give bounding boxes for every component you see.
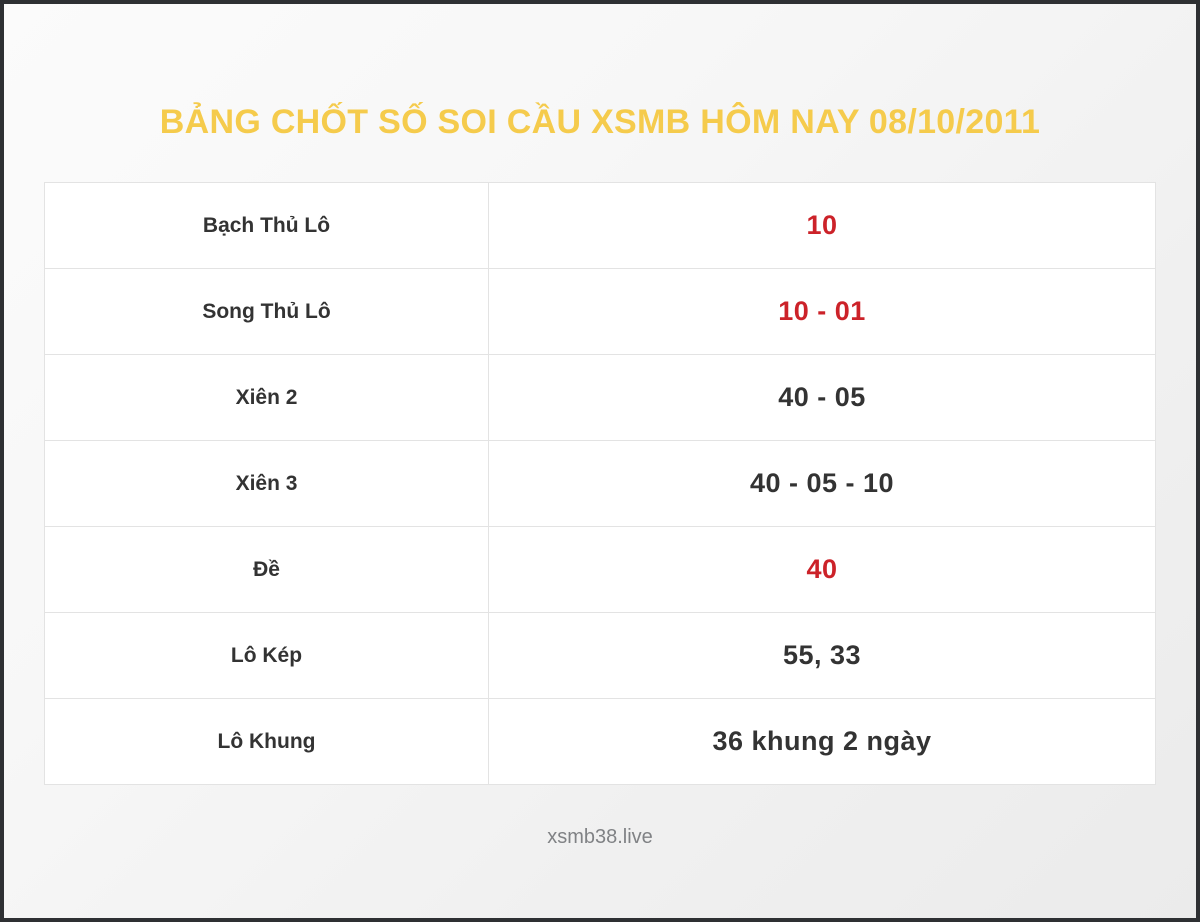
row-value-song-thu-lo: 10 - 01 xyxy=(489,269,1155,354)
table-row: Bạch Thủ Lô 10 xyxy=(45,183,1155,269)
row-label-song-thu-lo: Song Thủ Lô xyxy=(45,269,489,354)
site-watermark: xsmb38.live xyxy=(4,826,1196,849)
table-row: Lô Khung 36 khung 2 ngày xyxy=(45,699,1155,785)
row-label-xien-3: Xiên 3 xyxy=(45,441,489,526)
lottery-prediction-table: Bạch Thủ Lô 10 Song Thủ Lô 10 - 01 Xiên … xyxy=(44,182,1156,785)
table-row: Xiên 3 40 - 05 - 10 xyxy=(45,441,1155,527)
table-row: Lô Kép 55, 33 xyxy=(45,613,1155,699)
row-label-lo-khung: Lô Khung xyxy=(45,699,489,784)
row-value-de: 40 xyxy=(489,527,1155,612)
page-title: BẢNG CHỐT SỐ SOI CẦU XSMB HÔM NAY 08/10/… xyxy=(4,100,1196,144)
table-row: Song Thủ Lô 10 - 01 xyxy=(45,269,1155,355)
row-label-xien-2: Xiên 2 xyxy=(45,355,489,440)
row-label-lo-kep: Lô Kép xyxy=(45,613,489,698)
row-value-lo-khung: 36 khung 2 ngày xyxy=(489,699,1155,784)
table-row: Đề 40 xyxy=(45,527,1155,613)
page-frame: BẢNG CHỐT SỐ SOI CẦU XSMB HÔM NAY 08/10/… xyxy=(4,4,1196,918)
row-value-xien-3: 40 - 05 - 10 xyxy=(489,441,1155,526)
row-label-bach-thu-lo: Bạch Thủ Lô xyxy=(45,183,489,268)
row-value-xien-2: 40 - 05 xyxy=(489,355,1155,440)
row-value-lo-kep: 55, 33 xyxy=(489,613,1155,698)
table-row: Xiên 2 40 - 05 xyxy=(45,355,1155,441)
row-value-bach-thu-lo: 10 xyxy=(489,183,1155,268)
row-label-de: Đề xyxy=(45,527,489,612)
